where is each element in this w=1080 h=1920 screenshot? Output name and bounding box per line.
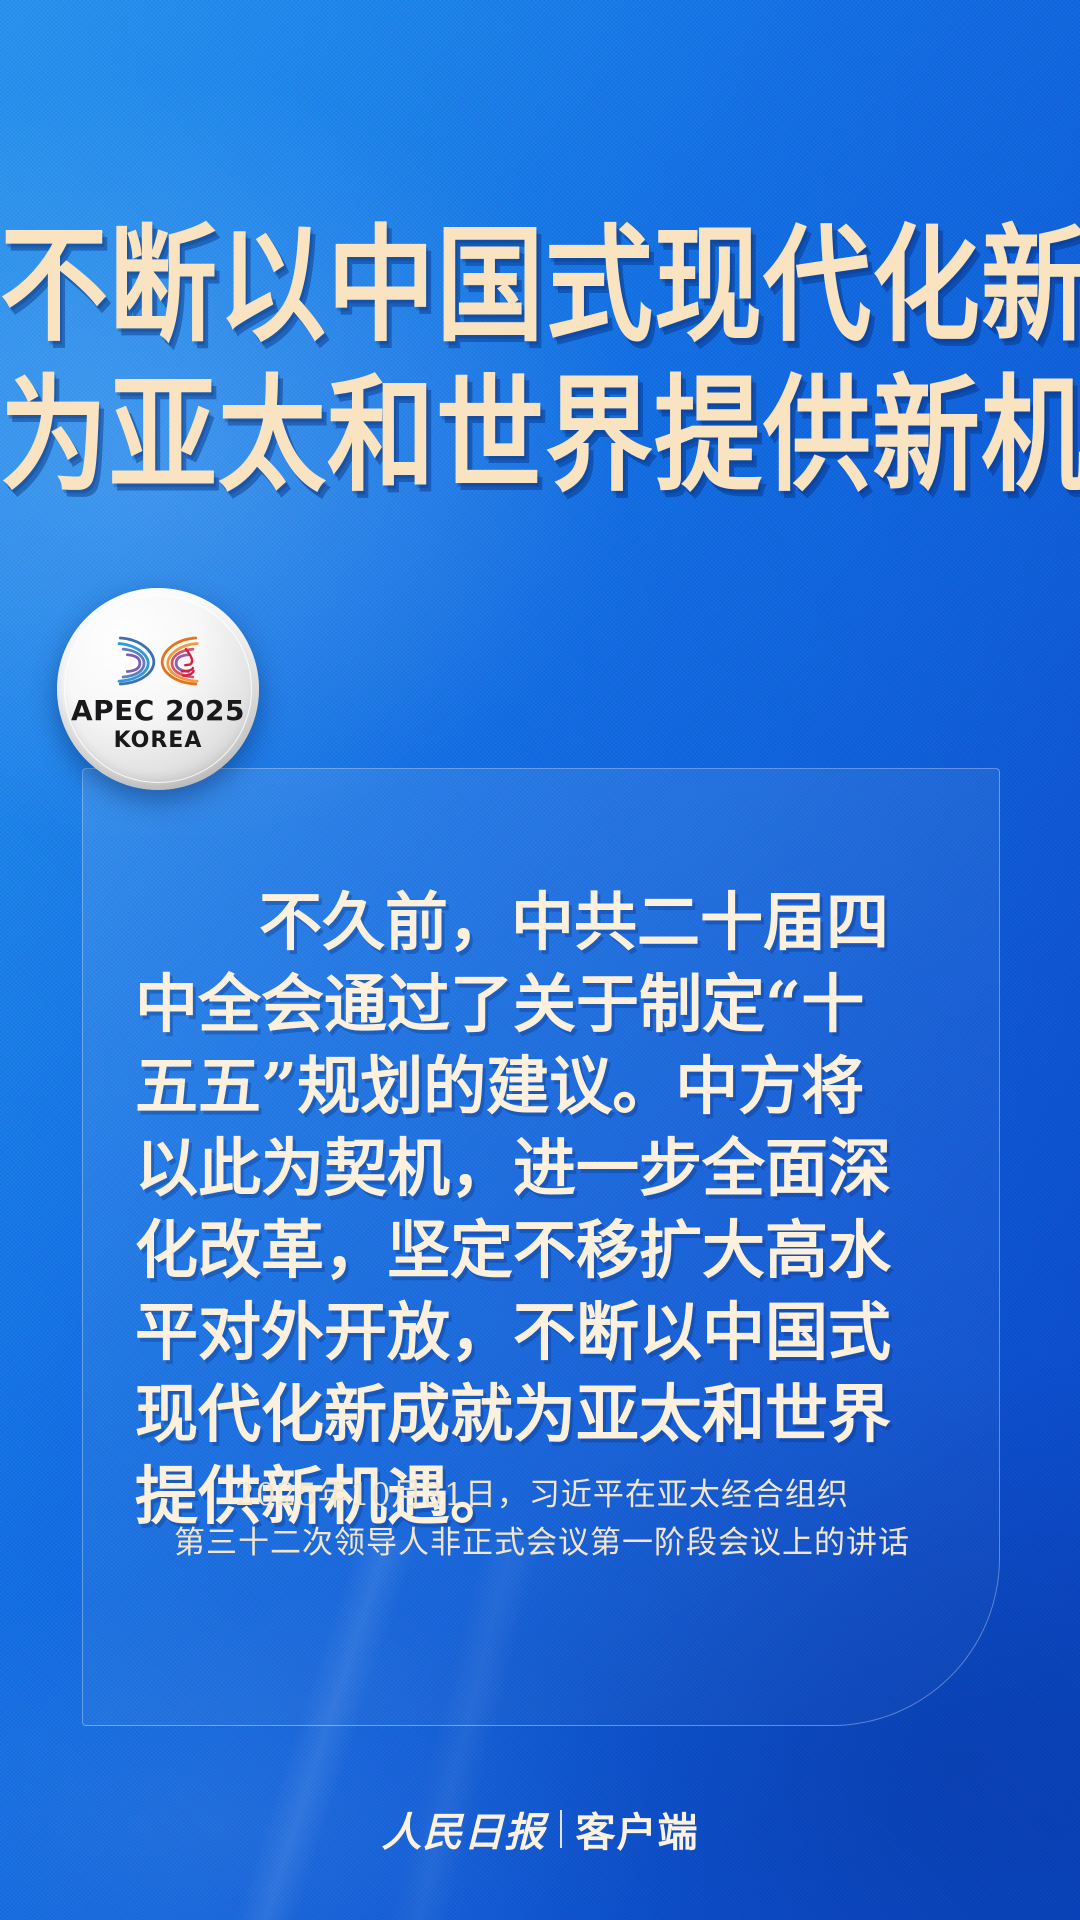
quote-line: 现代化新成就为亚太和世界 bbox=[135, 1373, 895, 1455]
page-title: 不断以中国式现代化新成就 为亚太和世界提供新机遇 bbox=[0, 212, 1080, 490]
attribution-line-1: 2025年10月31日，习近平在亚太经合组织 bbox=[83, 1471, 1001, 1519]
quote-line: 化改革，坚定不移扩大高水 bbox=[135, 1209, 895, 1291]
title-line-2: 为亚太和世界提供新机遇 bbox=[0, 362, 1080, 510]
quote-line: 五五”规划的建议。中方将 bbox=[135, 1045, 895, 1127]
quote-text-block: 不久前，中共二十届四 中全会通过了关于制定“十 五五”规划的建议。中方将 以此为… bbox=[135, 881, 895, 1537]
quote-line: 不久前，中共二十届四 bbox=[135, 881, 895, 963]
quote-line: 平对外开放，不断以中国式 bbox=[135, 1291, 895, 1373]
attribution: 2025年10月31日，习近平在亚太经合组织 第三十二次领导人非正式会议第一阶段… bbox=[83, 1471, 1001, 1567]
footer-brand-name: 人民日报 bbox=[382, 1800, 546, 1858]
footer-product-name: 客户端 bbox=[576, 1800, 699, 1858]
attribution-line-2: 第三十二次领导人非正式会议第一阶段会议上的讲话 bbox=[83, 1519, 1001, 1567]
apec-country-label: KOREA bbox=[114, 730, 203, 752]
footer-divider bbox=[560, 1810, 562, 1848]
poster-root: 不断以中国式现代化新成就 为亚太和世界提供新机遇 不久前，中共二十届四 中全会通… bbox=[0, 0, 1080, 1920]
quote-line: 以此为契机，进一步全面深 bbox=[135, 1127, 895, 1209]
apec-badge: APEC 2025 KOREA bbox=[57, 588, 259, 790]
apec-korea-faces-icon bbox=[102, 631, 214, 691]
footer-logo: 人民日报 客户端 bbox=[0, 1800, 1080, 1858]
apec-wordmark: APEC 2025 bbox=[71, 697, 245, 725]
quote-line: 中全会通过了关于制定“十 bbox=[135, 963, 895, 1045]
title-line-1: 不断以中国式现代化新成就 bbox=[0, 212, 1080, 360]
quote-card: 不久前，中共二十届四 中全会通过了关于制定“十 五五”规划的建议。中方将 以此为… bbox=[82, 768, 1000, 1726]
